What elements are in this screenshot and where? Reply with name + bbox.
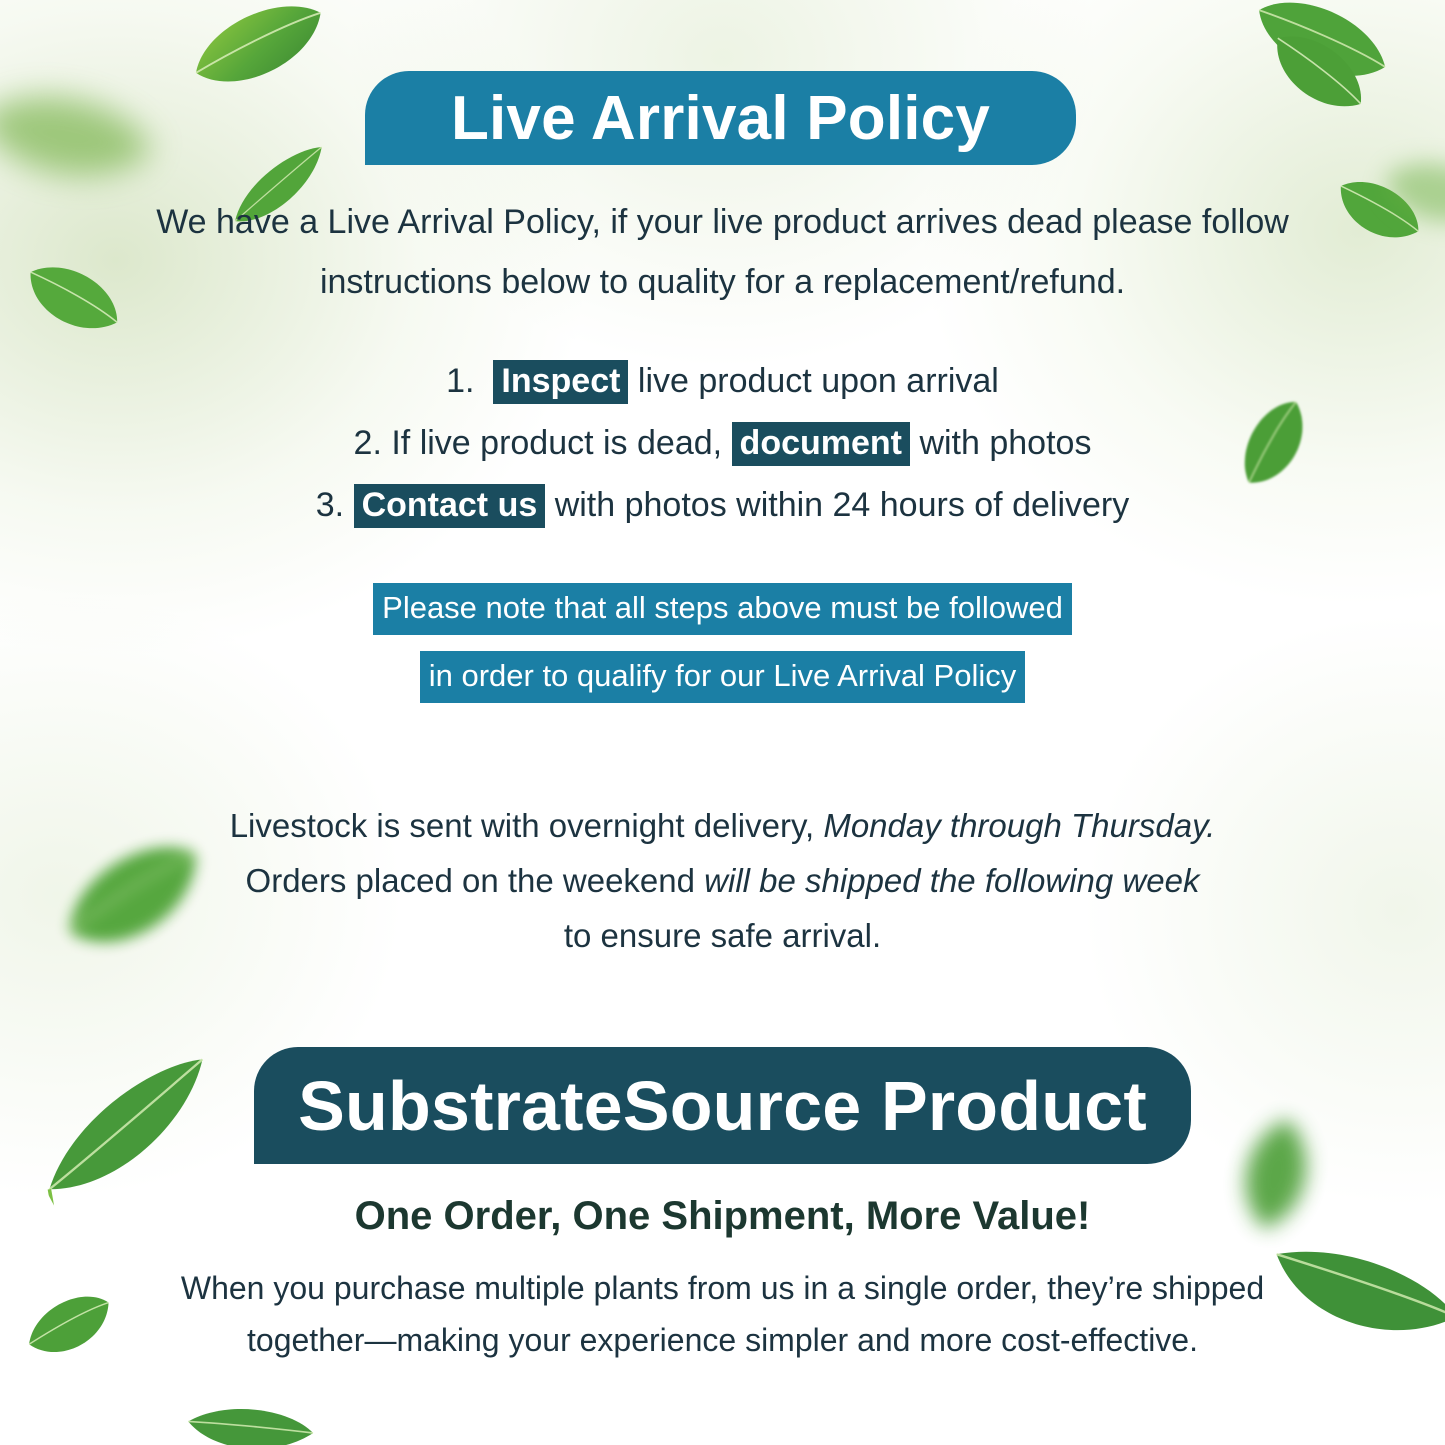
policy-intro-paragraph: We have a Live Arrival Policy, if your l… — [150, 192, 1295, 312]
step-number: 3. — [316, 486, 344, 524]
product-body-line-1: When you purchase multiple plants from u… — [140, 1262, 1305, 1314]
product-body-line-2: together—making your experience simpler … — [140, 1314, 1305, 1366]
shipping-line-1-italic: Monday through Thursday. — [823, 807, 1215, 844]
live-arrival-policy-banner: Live Arrival Policy — [365, 71, 1076, 165]
list-item: 1. Inspect live product upon arrival — [150, 350, 1295, 412]
shipping-line-2: Orders placed on the weekend will be shi… — [150, 853, 1295, 908]
product-description-paragraph: When you purchase multiple plants from u… — [140, 1262, 1305, 1366]
step-number: 1. — [446, 362, 474, 400]
substratesource-product-banner: SubstrateSource Product — [254, 1047, 1191, 1164]
step-highlight-document: document — [732, 422, 910, 466]
live-arrival-policy-title: Live Arrival Policy — [451, 83, 990, 154]
shipping-line-3: to ensure safe arrival. — [150, 908, 1295, 963]
policy-note-line-1: Please note that all steps above must be… — [373, 583, 1072, 635]
shipping-line-1-plain: Livestock is sent with overnight deliver… — [230, 807, 824, 844]
substratesource-product-title: SubstrateSource Product — [298, 1066, 1147, 1146]
list-item: 2. If live product is dead, document wit… — [150, 412, 1295, 474]
step-highlight-inspect: Inspect — [493, 360, 628, 404]
step-text-after: live product upon arrival — [628, 362, 998, 400]
shipping-schedule-paragraph: Livestock is sent with overnight deliver… — [150, 798, 1295, 963]
policy-intro-line-2: instructions below to quality for a repl… — [150, 252, 1295, 312]
step-text-after: with photos within 24 hours of delivery — [545, 486, 1129, 524]
step-text-after: with photos — [910, 424, 1091, 462]
shipping-line-1: Livestock is sent with overnight deliver… — [150, 798, 1295, 853]
step-text-before: If live product is dead, — [382, 424, 732, 462]
step-highlight-contact-us: Contact us — [354, 484, 546, 528]
product-subheading: One Order, One Shipment, More Value! — [150, 1194, 1295, 1239]
policy-infographic: Live Arrival Policy We have a Live Arriv… — [0, 0, 1445, 1445]
shipping-line-2-italic: will be shipped the following week — [704, 862, 1199, 899]
step-text-before — [344, 486, 353, 524]
policy-steps-list: 1. Inspect live product upon arrival 2. … — [150, 350, 1295, 536]
step-number: 2. — [354, 424, 382, 462]
list-item: 3. Contact us with photos within 24 hour… — [150, 474, 1295, 536]
policy-intro-line-1: We have a Live Arrival Policy, if your l… — [150, 192, 1295, 252]
policy-note-block: Please note that all steps above must be… — [150, 583, 1295, 719]
policy-note-line-2: in order to qualify for our Live Arrival… — [420, 651, 1026, 703]
shipping-line-2-plain: Orders placed on the weekend — [246, 862, 705, 899]
